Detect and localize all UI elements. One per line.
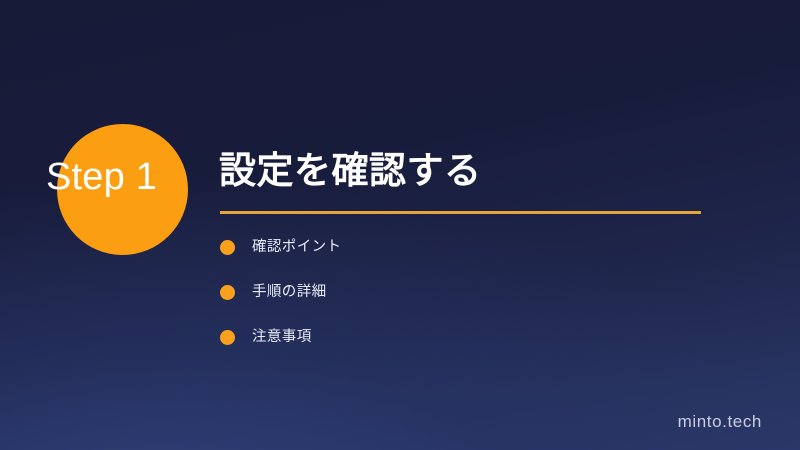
slide-canvas: Step 1 設定を確認する 確認ポイント 手順の詳細 注意事項 minto.t… (0, 0, 800, 450)
bullet-dot-icon (220, 285, 235, 300)
title-divider (220, 211, 701, 214)
list-item: 注意事項 (220, 329, 690, 345)
bullet-list: 確認ポイント 手順の詳細 注意事項 (220, 239, 690, 345)
list-item: 手順の詳細 (220, 284, 690, 300)
bullet-label: 注意事項 (252, 329, 312, 345)
bullet-label: 確認ポイント (252, 239, 341, 255)
bullet-label: 手順の詳細 (252, 284, 327, 300)
step-number-label: Step 1 (46, 155, 157, 199)
slide-title: 設定を確認する (219, 149, 482, 193)
bullet-dot-icon (220, 240, 235, 255)
bullet-dot-icon (220, 330, 235, 345)
footer-brand-watermark: minto.tech (678, 412, 762, 432)
list-item: 確認ポイント (220, 239, 690, 255)
